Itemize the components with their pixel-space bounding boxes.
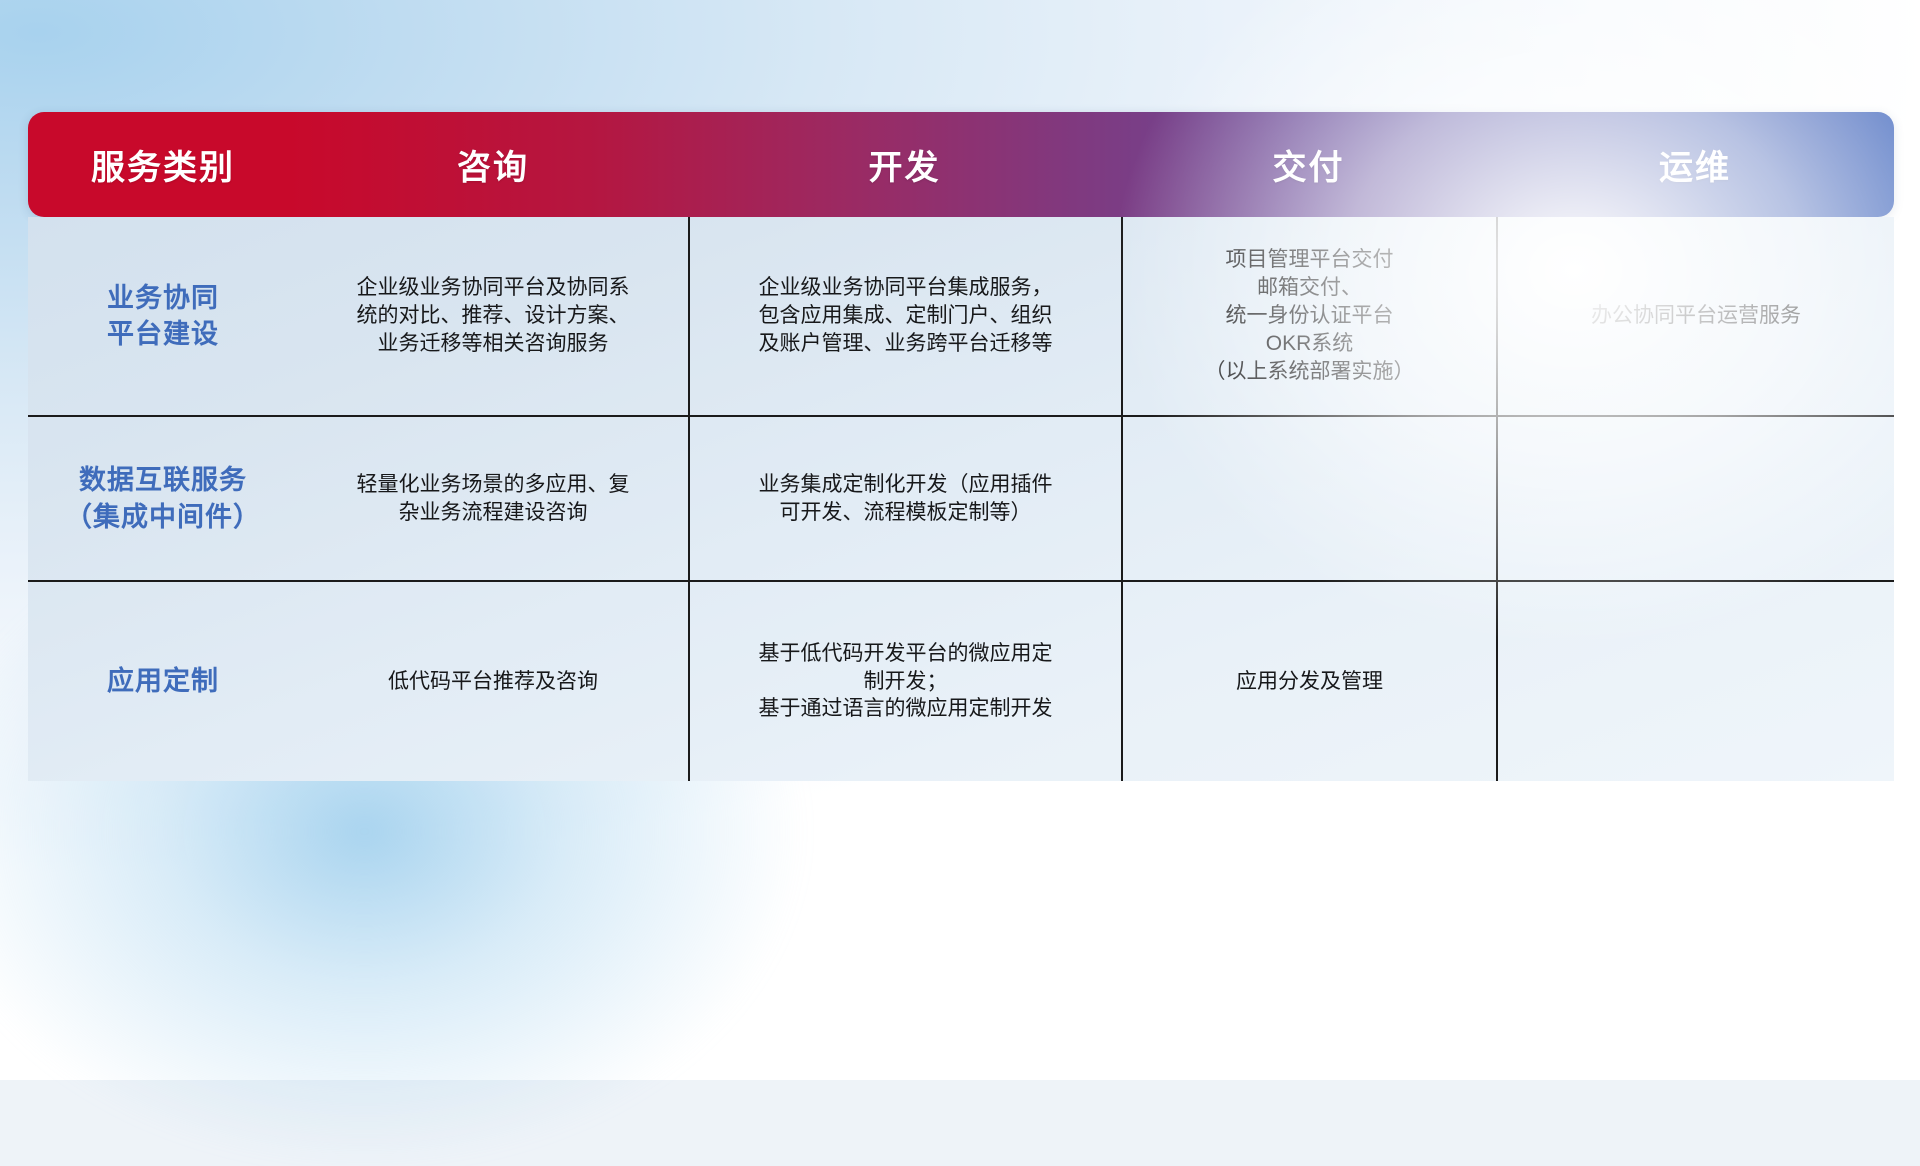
slide-canvas: 服务类别 咨询 开发 交付 运维 业务协同 平台建设 企业级业务协同平台及协同系… [0, 0, 1920, 1080]
cell-r2-operations [1496, 417, 1894, 580]
column-header-consulting: 咨询 [298, 112, 688, 217]
cell-r2-consulting: 轻量化业务场景的多应用、复 杂业务流程建设咨询 [298, 417, 688, 580]
cell-r3-delivery: 应用分发及管理 [1121, 582, 1496, 781]
cell-r2-delivery [1121, 417, 1496, 580]
row-label-business-collaboration: 业务协同 平台建设 [28, 217, 298, 415]
cell-r3-operations [1496, 582, 1894, 781]
cell-r3-consulting: 低代码平台推荐及咨询 [298, 582, 688, 781]
row-label-application-customization: 应用定制 [28, 582, 298, 781]
table-row: 应用定制 低代码平台推荐及咨询 基于低代码开发平台的微应用定 制开发； 基于通过… [28, 582, 1894, 781]
table-body: 业务协同 平台建设 企业级业务协同平台及协同系 统的对比、推荐、设计方案、 业务… [28, 217, 1894, 781]
cell-r1-delivery: 项目管理平台交付 邮箱交付、 统一身份认证平台 OKR系统 （以上系统部署实施） [1121, 217, 1496, 415]
service-matrix-table: 服务类别 咨询 开发 交付 运维 业务协同 平台建设 企业级业务协同平台及协同系… [28, 112, 1894, 781]
table-row: 数据互联服务 （集成中间件） 轻量化业务场景的多应用、复 杂业务流程建设咨询 业… [28, 417, 1894, 582]
cell-r1-consulting: 企业级业务协同平台及协同系 统的对比、推荐、设计方案、 业务迁移等相关咨询服务 [298, 217, 688, 415]
cell-r3-development: 基于低代码开发平台的微应用定 制开发； 基于通过语言的微应用定制开发 [688, 582, 1121, 781]
column-header-development: 开发 [688, 112, 1121, 217]
column-header-category: 服务类别 [28, 112, 298, 217]
row-label-data-interconnection: 数据互联服务 （集成中间件） [28, 417, 298, 580]
cell-r1-operations: 办公协同平台运营服务 [1496, 217, 1894, 415]
column-header-delivery: 交付 [1121, 112, 1496, 217]
cell-r2-development: 业务集成定制化开发（应用插件 可开发、流程模板定制等） [688, 417, 1121, 580]
table-row: 业务协同 平台建设 企业级业务协同平台及协同系 统的对比、推荐、设计方案、 业务… [28, 217, 1894, 417]
table-header-row: 服务类别 咨询 开发 交付 运维 [28, 112, 1894, 217]
column-header-operations: 运维 [1496, 112, 1894, 217]
cell-r1-development: 企业级业务协同平台集成服务， 包含应用集成、定制门户、组织 及账户管理、业务跨平… [688, 217, 1121, 415]
